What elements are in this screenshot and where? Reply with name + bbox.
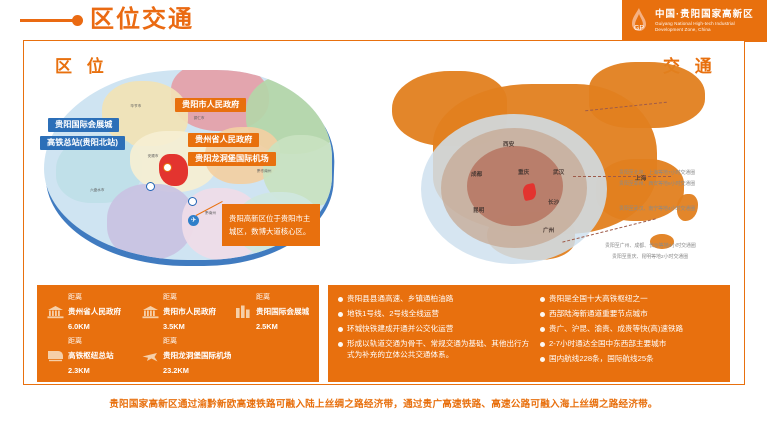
distance-value: 23.2KM <box>163 366 270 376</box>
title-dot-decoration <box>72 15 83 26</box>
distance-label: 距离 <box>68 293 137 303</box>
distance-panel: 距离 贵州省人民政府 6.0KM <box>37 285 319 382</box>
distance-value: 2.3KM <box>68 366 137 376</box>
list-item: 2-7小时通达全国中东西部主要城市 <box>540 338 726 350</box>
bullet-text: 形成以轨道交通为骨干、常规交通为基础、其他出行方式为补充的立体公共交通体系。 <box>347 338 534 360</box>
distance-label: 距离 <box>256 293 325 303</box>
map-label-airport[interactable]: 贵阳龙洞堡国际机场 <box>188 152 276 166</box>
map-city-label: 毕节市 <box>130 104 141 109</box>
high-speed-rail-icon <box>45 348 65 363</box>
bullet-text: 西部陆海新通道重要节点城市 <box>549 308 648 320</box>
distance-item-airport: 距离 贵阳龙洞堡国际机场 23.2KM <box>140 337 270 376</box>
list-item: 贵广、沪昆、渝贵、成贵等快(高)速铁路 <box>540 323 726 335</box>
bullet-text: 贵广、沪昆、渝贵、成贵等快(高)速铁路 <box>549 323 683 335</box>
distance-label: 距离 <box>163 293 232 303</box>
travel-time-note: 贵阳至武汉、南宁等地4小时交通圈 <box>619 206 695 214</box>
map-region <box>107 184 193 260</box>
exhibition-center-icon <box>233 304 253 319</box>
distance-item-exhibition-city: 距离 贵阳国际会展城 2.5KM <box>233 293 325 332</box>
government-building-icon <box>45 304 65 319</box>
travel-time-note: 贵阳至重庆、昆明等地2小时交通圈 <box>612 254 688 262</box>
travel-circle-inner <box>467 146 563 226</box>
bullet-text: 贵阳是全国十大高铁枢纽之一 <box>549 293 648 305</box>
title-rule-decoration <box>20 19 74 22</box>
map-label-province-government[interactable]: 贵州省人民政府 <box>188 133 259 147</box>
distance-destination: 贵阳龙洞堡国际机场 <box>163 350 231 361</box>
bullet-dot-icon <box>338 297 343 302</box>
map-label-exhibition-city[interactable]: 贵阳国际会展城 <box>48 118 119 132</box>
distance-item-rail-hub: 距离 高铁枢纽总站 2.3KM <box>45 337 137 376</box>
distance-value: 2.5KM <box>256 322 325 332</box>
distance-label: 距离 <box>68 337 137 347</box>
slide-root: 区位交通 GP 中国·贵阳国家高新区 Guiyang National High… <box>0 0 767 425</box>
transport-bullets-panel: 贵阳县县通高速、乡镇通柏油路 地铁1号线、2号线全线运营 环城快铁建成开通并公交… <box>328 285 730 382</box>
list-item: 形成以轨道交通为骨干、常规交通为基础、其他出行方式为补充的立体公共交通体系。 <box>338 338 534 360</box>
bullet-dot-icon <box>338 327 343 332</box>
map-label-rail-station[interactable]: 高铁总站(贵阳北站) <box>40 136 125 150</box>
list-item: 地铁1号线、2号线全线运营 <box>338 308 534 320</box>
china-city-label: 武汉 <box>553 168 564 176</box>
china-city-label: 广州 <box>543 226 554 234</box>
map-city-label: 铜仁市 <box>194 116 205 121</box>
brand-name-en-line2: Development Zone, China <box>655 27 754 33</box>
distance-destination: 贵州省人民政府 <box>68 306 121 317</box>
bullet-text: 贵阳县县通高速、乡镇通柏油路 <box>347 293 453 305</box>
distance-destination: 高铁枢纽总站 <box>68 350 114 361</box>
map-city-label: 六盘水市 <box>90 188 104 193</box>
map-label-city-government[interactable]: 贵阳市人民政府 <box>175 98 246 112</box>
china-city-label: 长沙 <box>548 198 559 206</box>
distance-item-province-government: 距离 贵州省人民政府 6.0KM <box>45 293 137 332</box>
flame-logo-icon: GP <box>626 6 652 36</box>
brand-name-cn: 中国·贵阳国家高新区 <box>655 9 754 21</box>
page-title: 区位交通 <box>90 6 194 34</box>
bullet-dot-icon <box>540 312 545 317</box>
bullet-text: 环城快铁建成开通并公交化运营 <box>347 323 453 335</box>
list-item: 环城快铁建成开通并公交化运营 <box>338 323 534 335</box>
map-pin-airport[interactable]: ✈ <box>188 215 199 226</box>
list-item: 西部陆海新通道重要节点城市 <box>540 308 726 320</box>
travel-time-note: 贵阳至北京、上海等地7小时交通圈 <box>619 170 695 178</box>
brand-text: 中国·贵阳国家高新区 Guiyang National High-tech In… <box>655 9 754 33</box>
china-city-label: 西安 <box>503 140 514 148</box>
government-building-icon <box>140 304 160 319</box>
distance-value: 3.5KM <box>163 322 232 332</box>
china-city-label: 成都 <box>471 170 482 178</box>
bullet-text: 国内航线228条，国际航线25条 <box>549 353 654 365</box>
list-item: 贵阳县县通高速、乡镇通柏油路 <box>338 293 534 305</box>
zone-location-tooltip: 贵阳高新区位于贵阳市主城区，数博大道核心区。 <box>222 204 320 246</box>
bullet-dot-icon <box>338 342 343 347</box>
brand-logo-bar: GP 中国·贵阳国家高新区 Guiyang National High-tech… <box>622 0 767 42</box>
distance-destination: 贵阳国际会展城 <box>256 306 309 317</box>
travel-time-note: 贵阳至广州、成都、长沙等地3小时交通圈 <box>605 243 696 251</box>
list-item: 贵阳是全国十大高铁枢纽之一 <box>540 293 726 305</box>
bullet-dot-icon <box>338 312 343 317</box>
travel-time-note: 贵阳至郑州、西安等地6小时交通圈 <box>619 181 695 189</box>
bullet-dot-icon <box>540 327 545 332</box>
bullet-text: 地铁1号线、2号线全线运营 <box>347 308 439 320</box>
list-item: 国内航线228条，国际航线25条 <box>540 353 726 365</box>
distance-label: 距离 <box>163 337 270 347</box>
bullet-text: 2-7小时通达全国中东西部主要城市 <box>549 338 666 350</box>
bullet-dot-icon <box>540 297 545 302</box>
bullet-dot-icon <box>540 357 545 362</box>
china-city-label: 重庆 <box>518 168 529 176</box>
map-pin-city-government[interactable] <box>163 163 172 172</box>
map-city-label: 安顺市 <box>148 154 159 159</box>
distance-destination: 贵阳市人民政府 <box>163 306 216 317</box>
map-pin-exhibition-city[interactable] <box>146 182 155 191</box>
map-pin-rail-station[interactable] <box>188 197 197 206</box>
bullet-dot-icon <box>540 342 545 347</box>
svg-text:GP: GP <box>634 25 644 32</box>
footer-caption: 贵阳国家高新区通过渝黔新欧高速铁路可融入陆上丝绸之路经济带，通过贵广高速铁路、高… <box>0 396 767 410</box>
distance-item-city-government: 距离 贵阳市人民政府 3.5KM <box>140 293 232 332</box>
airplane-icon <box>140 348 160 363</box>
distance-value: 6.0KM <box>68 322 137 332</box>
bullet-column-left: 贵阳县县通高速、乡镇通柏油路 地铁1号线、2号线全线运营 环城快铁建成开通并公交… <box>338 293 534 364</box>
map-city-label: 黔南州 <box>205 211 216 216</box>
china-city-label: 昆明 <box>473 206 484 214</box>
distance-grid: 距离 贵州省人民政府 6.0KM <box>37 285 319 382</box>
map-city-label: 黔东南州 <box>257 169 271 174</box>
bullet-column-right: 贵阳是全国十大高铁枢纽之一 西部陆海新通道重要节点城市 贵广、沪昆、渝贵、成贵等… <box>540 293 726 368</box>
